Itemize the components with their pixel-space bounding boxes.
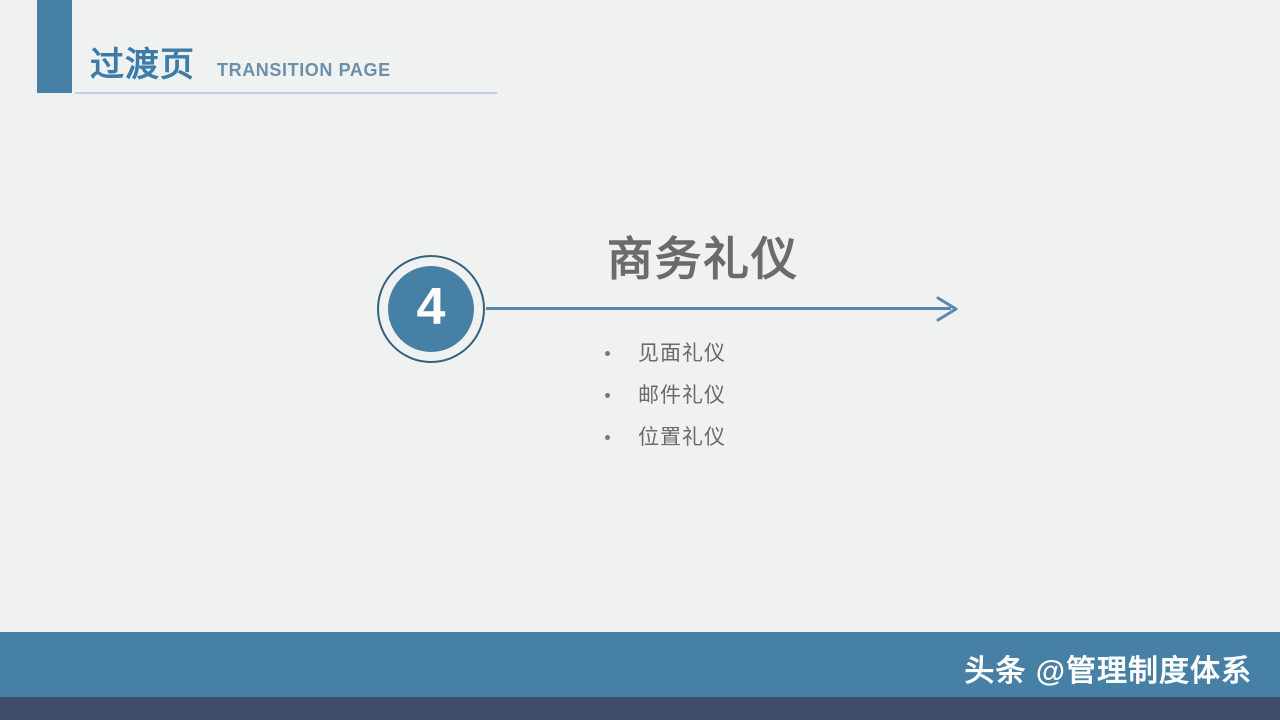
arrow-right-icon: [930, 294, 960, 324]
footer-brand-label: 头条 @管理制度体系: [964, 657, 1252, 687]
list-item: 见面礼仪: [605, 332, 726, 374]
list-item: 位置礼仪: [605, 416, 726, 458]
section-number-badge: 4: [388, 266, 474, 352]
arrow-line: [486, 307, 951, 310]
section-bullet-list: 见面礼仪 邮件礼仪 位置礼仪: [605, 332, 726, 458]
list-item-label: 邮件礼仪: [638, 385, 726, 406]
list-item-label: 见面礼仪: [638, 343, 726, 364]
bullet-dot-icon: [605, 351, 610, 356]
bullet-dot-icon: [605, 393, 610, 398]
bullet-dot-icon: [605, 435, 610, 440]
section-number-label: 4: [417, 281, 446, 333]
page-title-en: TRANSITION PAGE: [217, 61, 391, 79]
header-underline-rule: [75, 92, 497, 94]
list-item: 邮件礼仪: [605, 374, 726, 416]
header-title-group: 过渡页 TRANSITION PAGE: [90, 48, 391, 82]
footer-accent-strip: [0, 697, 1280, 720]
header-accent-bar: [37, 0, 72, 93]
section-title: 商务礼仪: [607, 236, 799, 282]
list-item-label: 位置礼仪: [638, 427, 726, 448]
page-title-cn: 过渡页: [90, 48, 195, 82]
slide-canvas: 过渡页 TRANSITION PAGE 4 商务礼仪 见面礼仪 邮件礼仪 位置礼…: [0, 0, 1280, 720]
